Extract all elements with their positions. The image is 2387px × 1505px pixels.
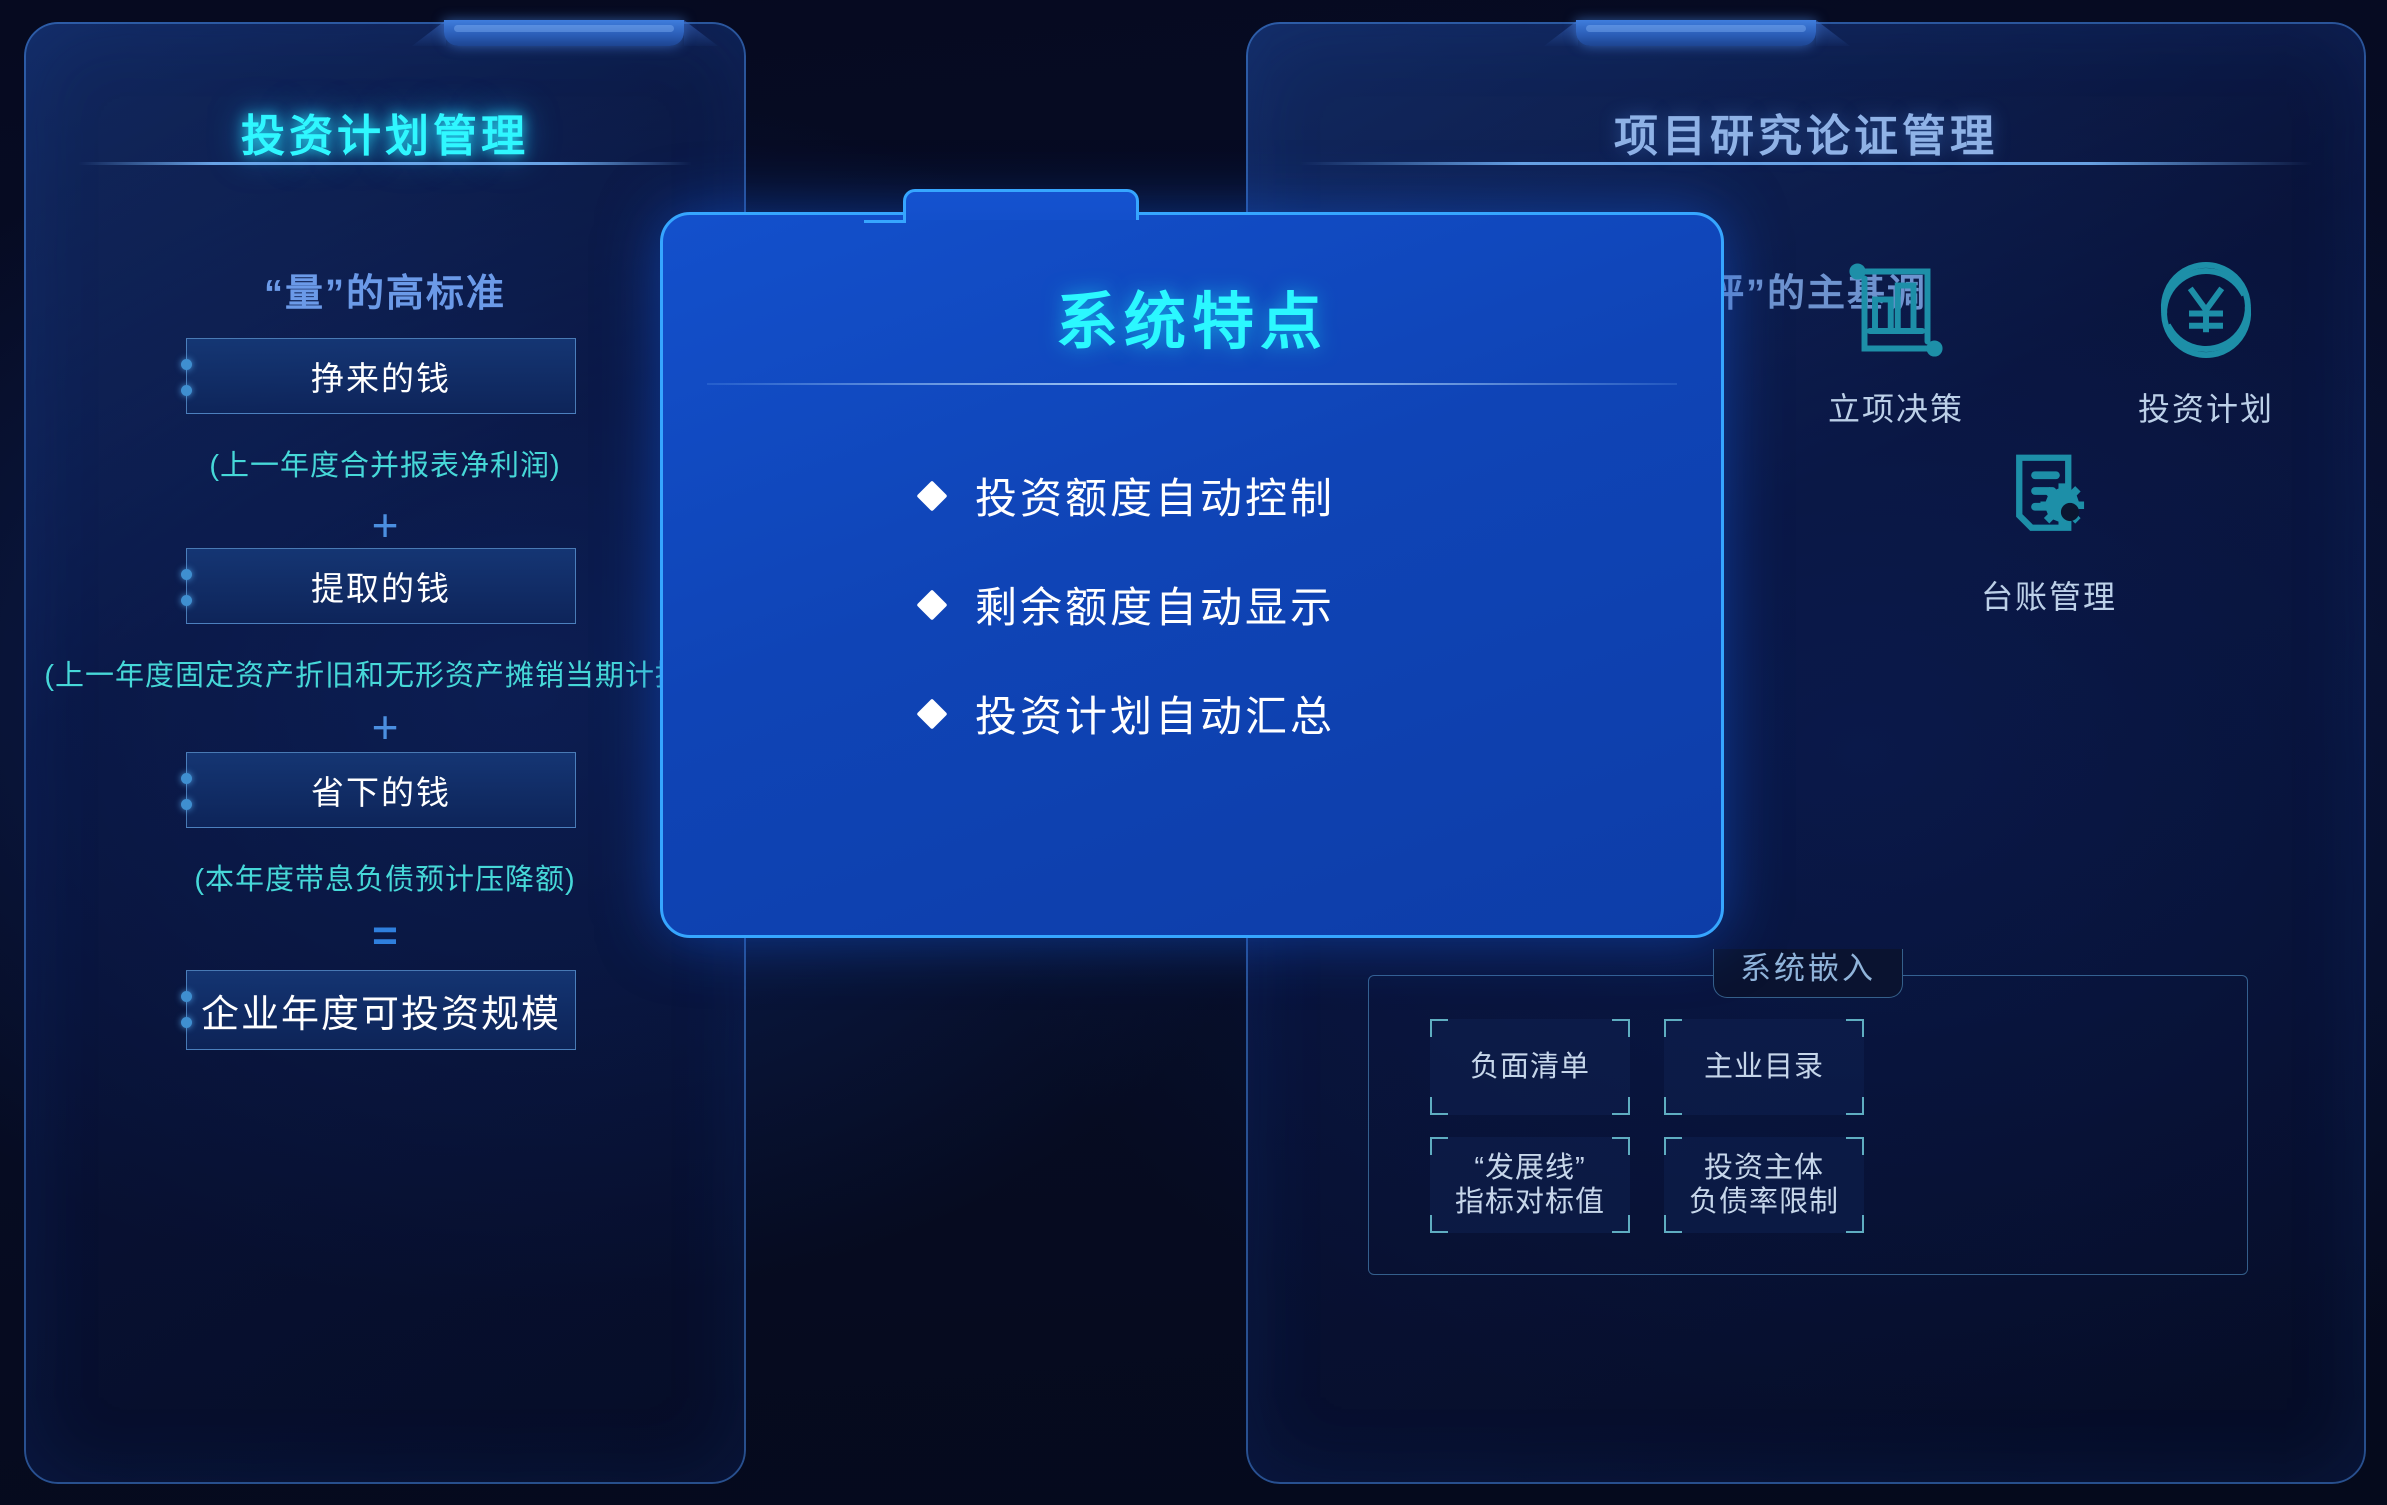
embed-item-development-line[interactable]: “发展线” 指标对标值 <box>1430 1137 1630 1233</box>
corner-bracket-icon <box>1846 1215 1864 1233</box>
formula-box-saved[interactable]: 省下的钱 <box>186 752 576 828</box>
connector-dot <box>181 385 192 396</box>
icon-caption: 立项决策 <box>1776 384 2016 430</box>
system-embed-legend: 系统嵌入 <box>1713 949 1903 998</box>
embed-item-label: 负面清单 <box>1470 1050 1590 1084</box>
panel-notch-wing-left <box>1544 20 1578 46</box>
formula-box-label: 提取的钱 <box>311 562 451 610</box>
corner-bracket-icon <box>1846 1137 1864 1155</box>
embed-item-negative-list[interactable]: 负面清单 <box>1430 1019 1630 1115</box>
bar-chart-icon <box>1776 250 2016 370</box>
left-panel-notch <box>444 20 684 46</box>
diamond-bullet-icon <box>916 480 947 511</box>
connector-dot <box>181 799 192 810</box>
left-panel: 投资计划管理 “量”的高标准 挣来的钱 (上一年度合并报表净利润) + 提取的钱… <box>24 22 746 1484</box>
diamond-bullet-icon <box>916 589 947 620</box>
corner-bracket-icon <box>1846 1019 1864 1037</box>
connector-dot <box>181 595 192 606</box>
embed-item-line1: 投资主体 <box>1704 1152 1824 1184</box>
panel-notch-wing-right <box>1816 20 1850 46</box>
corner-bracket-icon <box>1612 1215 1630 1233</box>
system-features-card[interactable]: 系统特点 投资额度自动控制 剩余额度自动显示 投资计划自动汇总 <box>660 212 1724 938</box>
formula-box-result[interactable]: 企业年度可投资规模 <box>186 970 576 1050</box>
corner-bracket-icon <box>1612 1097 1630 1115</box>
embed-item-line2: 指标对标值 <box>1455 1186 1605 1218</box>
formula-box-label: 挣来的钱 <box>311 352 451 400</box>
feature-card-title: 系统特点 <box>663 271 1721 361</box>
formula-result-label: 企业年度可投资规模 <box>201 983 561 1038</box>
formula-operator-plus-1: + <box>24 502 746 548</box>
corner-bracket-icon <box>1430 1215 1448 1233</box>
corner-bracket-icon <box>1430 1137 1448 1155</box>
right-panel-title: 项目研究论证管理 <box>1246 100 2366 164</box>
connector-dot <box>181 359 192 370</box>
embed-item-investor-debt-limit[interactable]: 投资主体 负债率限制 <box>1664 1137 1864 1233</box>
right-title-divider <box>1300 162 2312 165</box>
slide-canvas: 投资计划管理 “量”的高标准 挣来的钱 (上一年度合并报表净利润) + 提取的钱… <box>0 0 2387 1505</box>
corner-bracket-icon <box>1430 1097 1448 1115</box>
ledger-gear-icon <box>1929 438 2169 558</box>
corner-bracket-icon <box>1664 1137 1682 1155</box>
formula-box-label: 省下的钱 <box>311 766 451 814</box>
corner-bracket-icon <box>1664 1097 1682 1115</box>
icon-cell-project-decision[interactable]: 立项决策 <box>1776 250 2016 430</box>
feature-bullet-label: 剩余额度自动显示 <box>975 574 1335 635</box>
corner-bracket-icon <box>1612 1019 1630 1037</box>
left-title-divider <box>78 162 692 165</box>
corner-bracket-icon <box>1846 1097 1864 1115</box>
feature-card-divider <box>707 383 1677 385</box>
connector-dot <box>181 1017 192 1028</box>
icon-caption: 台账管理 <box>1929 572 2169 618</box>
formula-box-extracted[interactable]: 提取的钱 <box>186 548 576 624</box>
formula-note-saved: (本年度带息负债预计压降额) <box>24 856 746 898</box>
left-panel-subtitle: “量”的高标准 <box>24 262 746 317</box>
embed-item-label: 主业目录 <box>1704 1050 1824 1084</box>
panel-notch-wing-right <box>684 20 718 46</box>
corner-bracket-icon <box>1430 1019 1448 1037</box>
corner-bracket-icon <box>1664 1019 1682 1037</box>
yen-refresh-icon <box>2086 250 2326 370</box>
feature-bullet-label: 投资计划自动汇总 <box>975 683 1335 744</box>
formula-operator-plus-2: + <box>24 704 746 750</box>
feature-bullet-item: 投资额度自动控制 <box>921 465 1335 526</box>
diamond-bullet-icon <box>916 698 947 729</box>
embed-item-label: “发展线” 指标对标值 <box>1455 1151 1605 1219</box>
system-embed-group: 系统嵌入 负面清单 主业目录 <box>1368 975 2248 1275</box>
embed-item-line2: 负债率限制 <box>1689 1186 1839 1218</box>
embed-item-line1: “发展线” <box>1474 1152 1585 1184</box>
connector-dot <box>181 773 192 784</box>
formula-operator-equals: = <box>24 914 746 958</box>
system-embed-grid: 负面清单 主业目录 “发展线” 指标对标值 <box>1430 1019 1864 1233</box>
icon-cell-investment-plan[interactable]: 投资计划 <box>2086 250 2326 430</box>
feature-card-notch <box>903 189 1139 220</box>
icon-cell-ledger-management[interactable]: 台账管理 <box>1929 438 2169 618</box>
formula-box-earned[interactable]: 挣来的钱 <box>186 338 576 414</box>
feature-bullet-label: 投资额度自动控制 <box>975 465 1335 526</box>
feature-bullet-list: 投资额度自动控制 剩余额度自动显示 投资计划自动汇总 <box>921 465 1335 792</box>
panel-notch-wing-left <box>412 20 446 46</box>
embed-item-label: 投资主体 负债率限制 <box>1689 1151 1839 1219</box>
feature-bullet-item: 剩余额度自动显示 <box>921 574 1335 635</box>
formula-note-earned: (上一年度合并报表净利润) <box>24 442 746 484</box>
connector-dot <box>181 569 192 580</box>
embed-item-main-business-catalog[interactable]: 主业目录 <box>1664 1019 1864 1115</box>
right-panel-notch <box>1576 20 1816 46</box>
left-panel-title: 投资计划管理 <box>24 100 746 164</box>
icon-caption: 投资计划 <box>2086 384 2326 430</box>
corner-bracket-icon <box>1664 1215 1682 1233</box>
feature-bullet-item: 投资计划自动汇总 <box>921 683 1335 744</box>
corner-bracket-icon <box>1612 1137 1630 1155</box>
connector-dot <box>181 991 192 1002</box>
